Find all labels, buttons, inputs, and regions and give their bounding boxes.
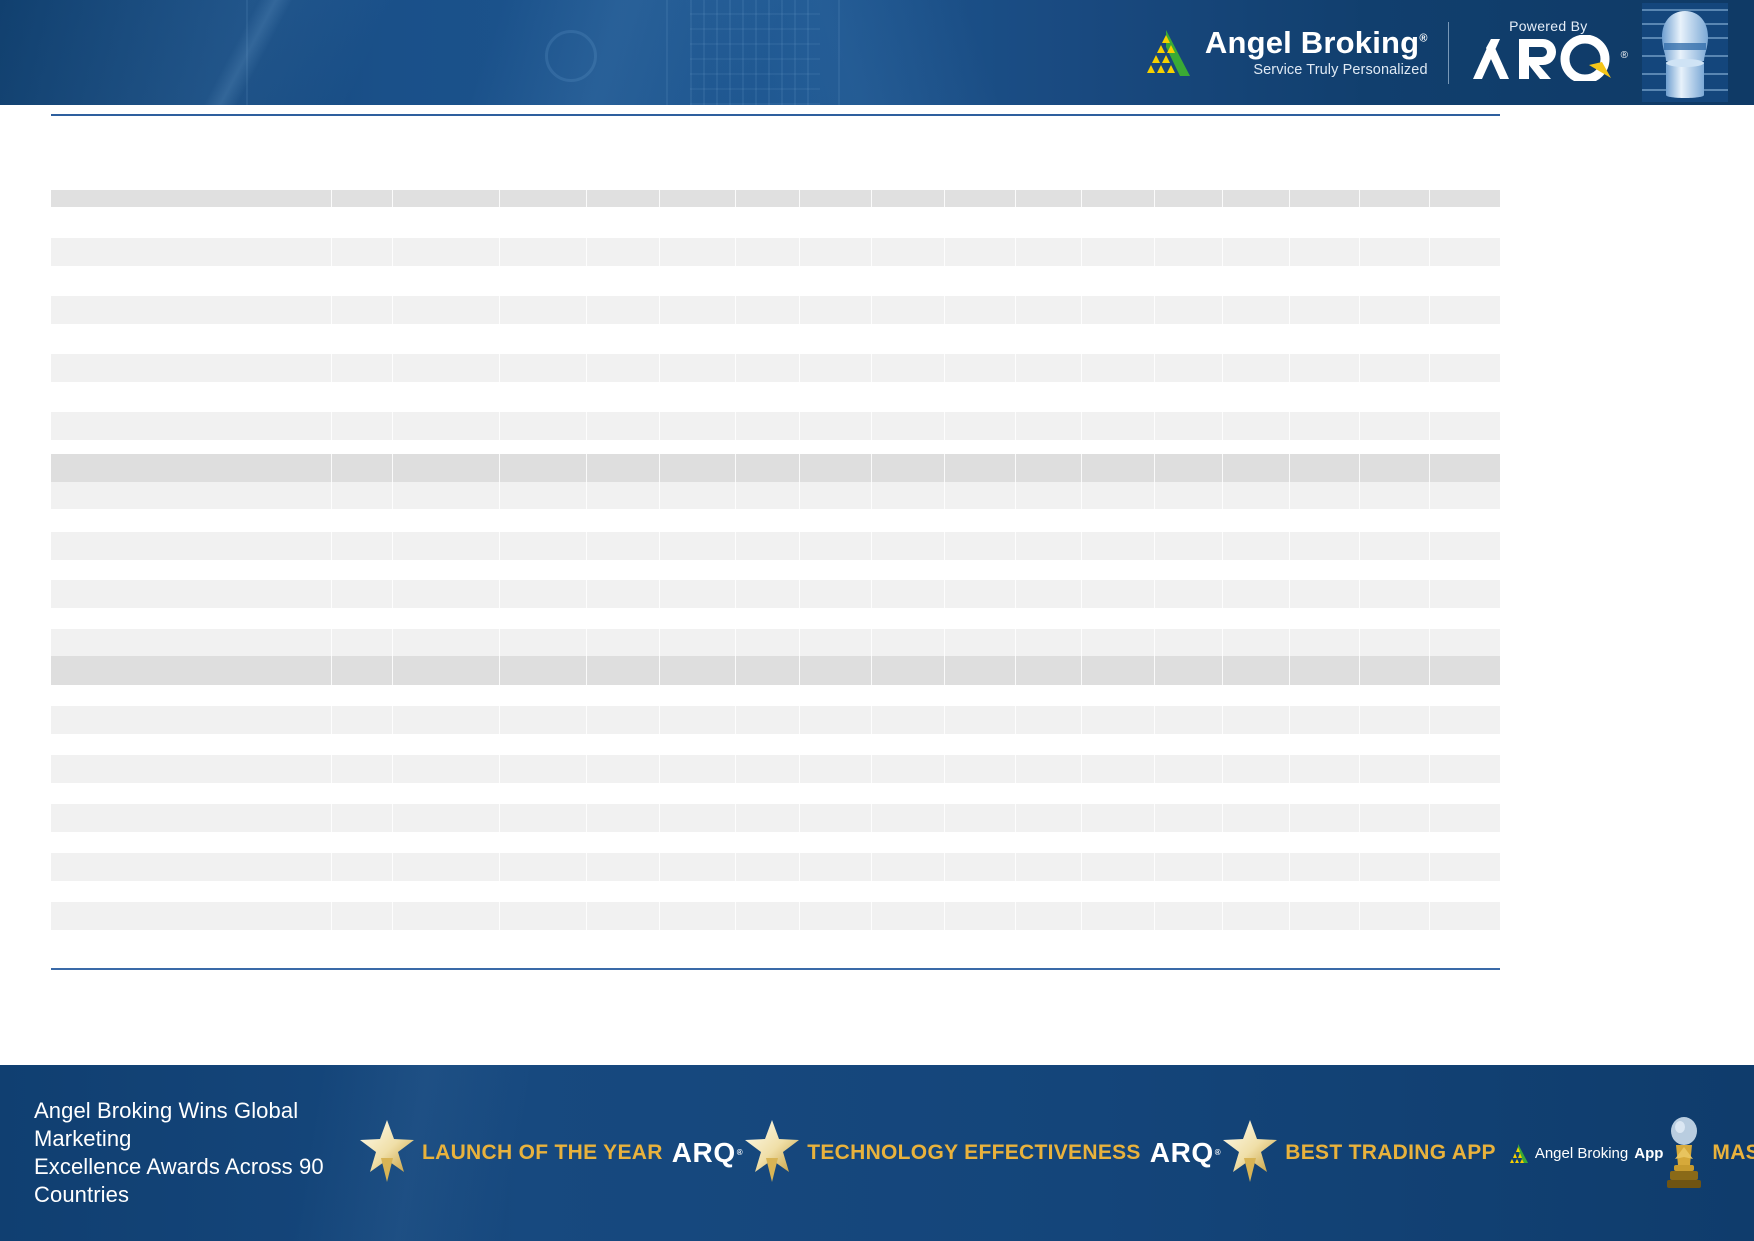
table-cell bbox=[51, 629, 332, 656]
table-cell bbox=[1360, 629, 1430, 656]
table-cell bbox=[800, 354, 872, 382]
table-cell bbox=[660, 755, 736, 783]
table-row[interactable] bbox=[51, 207, 1500, 238]
table-cell bbox=[736, 296, 800, 324]
arq-wordmark-text bbox=[1469, 35, 1619, 88]
table-row[interactable] bbox=[51, 804, 1500, 832]
table-cell bbox=[872, 629, 945, 656]
table-cell bbox=[500, 656, 587, 685]
table-cell bbox=[1155, 238, 1223, 266]
table-cell bbox=[1082, 804, 1155, 832]
table-row[interactable] bbox=[51, 902, 1500, 930]
award-arq-text: ARQ bbox=[672, 1137, 736, 1169]
table-row[interactable] bbox=[51, 881, 1500, 902]
brand-registered-mark: ® bbox=[1419, 33, 1427, 45]
table-row[interactable] bbox=[51, 509, 1500, 532]
table-cell bbox=[736, 629, 800, 656]
table-cell bbox=[660, 454, 736, 482]
table-cell bbox=[800, 454, 872, 482]
table-cell bbox=[332, 656, 393, 685]
arq-robot-icon bbox=[1642, 3, 1728, 102]
table-cell bbox=[1430, 532, 1500, 560]
table-row[interactable] bbox=[51, 412, 1500, 440]
table-cell bbox=[872, 755, 945, 783]
table-cell bbox=[500, 238, 587, 266]
table-cell bbox=[736, 853, 800, 881]
table-cell bbox=[587, 238, 660, 266]
table-cell bbox=[393, 656, 500, 685]
table-cell bbox=[945, 656, 1016, 685]
table-cell bbox=[1155, 902, 1223, 930]
brand-name-text: Angel Broking bbox=[1205, 25, 1419, 60]
table-cell bbox=[1290, 656, 1360, 685]
table-row[interactable] bbox=[51, 482, 1500, 509]
table-cell bbox=[945, 629, 1016, 656]
header-circle-watermark bbox=[545, 30, 597, 82]
award-label: BEST TRADING APP bbox=[1285, 1141, 1496, 1165]
table-cell bbox=[393, 755, 500, 783]
table-cell bbox=[1360, 580, 1430, 608]
table-cell bbox=[1430, 238, 1500, 266]
table-header-cell bbox=[1290, 190, 1360, 207]
table-row[interactable] bbox=[51, 580, 1500, 608]
table-cell bbox=[1290, 853, 1360, 881]
table-cell bbox=[51, 454, 332, 482]
table-cell bbox=[1290, 755, 1360, 783]
table-cell bbox=[872, 706, 945, 734]
table-header-cell bbox=[587, 190, 660, 207]
table-row[interactable] bbox=[51, 608, 1500, 629]
table-cell bbox=[1360, 656, 1430, 685]
table-cell bbox=[660, 804, 736, 832]
table-cell bbox=[332, 580, 393, 608]
table-cell bbox=[393, 238, 500, 266]
table-cell bbox=[587, 454, 660, 482]
table-cell bbox=[1223, 580, 1290, 608]
table-cell bbox=[587, 412, 660, 440]
table-cell bbox=[1016, 853, 1082, 881]
angel-broking-logo: Angel Broking® Service Truly Personalize… bbox=[1140, 27, 1428, 78]
table-cell bbox=[736, 656, 800, 685]
table-cell bbox=[332, 629, 393, 656]
table-cell bbox=[1430, 580, 1500, 608]
table-header-cell bbox=[1430, 190, 1500, 207]
table-cell bbox=[660, 853, 736, 881]
table-cell bbox=[1360, 238, 1430, 266]
header-diagonal-streak bbox=[120, 0, 380, 105]
table-row[interactable] bbox=[51, 354, 1500, 382]
table-row[interactable] bbox=[51, 238, 1500, 266]
table-cell bbox=[736, 706, 800, 734]
table-row[interactable] bbox=[51, 324, 1500, 354]
table-cell bbox=[736, 902, 800, 930]
table-cell bbox=[1223, 902, 1290, 930]
table-cell bbox=[1155, 354, 1223, 382]
table-cell bbox=[1360, 706, 1430, 734]
table-cell bbox=[1223, 656, 1290, 685]
angel-broking-triangle-icon bbox=[1140, 28, 1192, 78]
table-cell bbox=[1223, 296, 1290, 324]
table-cell bbox=[872, 580, 945, 608]
table-cell bbox=[736, 804, 800, 832]
table-cell bbox=[500, 853, 587, 881]
table-cell bbox=[1155, 755, 1223, 783]
table-cell bbox=[1155, 706, 1223, 734]
table-cell bbox=[1360, 853, 1430, 881]
table-header-row[interactable] bbox=[51, 190, 1500, 207]
table-cell bbox=[660, 656, 736, 685]
table-cell bbox=[51, 902, 332, 930]
award-label: LAUNCH OF THE YEAR bbox=[422, 1141, 663, 1165]
award-sub-brand-bold: App bbox=[1634, 1145, 1663, 1162]
award-badge: BEST TRADING APP Angel BrokingApp bbox=[1221, 1065, 1663, 1241]
table-cell bbox=[872, 412, 945, 440]
award-badge: LAUNCH OF THE YEARARQ® bbox=[358, 1065, 743, 1241]
table-cell bbox=[1430, 354, 1500, 382]
table-cell bbox=[1360, 482, 1430, 509]
table-cell bbox=[332, 532, 393, 560]
table-cell bbox=[660, 238, 736, 266]
table-cell bbox=[1016, 482, 1082, 509]
table-cell bbox=[51, 656, 332, 685]
table-cell bbox=[872, 804, 945, 832]
table-cell bbox=[500, 412, 587, 440]
header-vertical-streak bbox=[666, 0, 668, 105]
table-cell bbox=[736, 238, 800, 266]
table-bottom-rule bbox=[51, 968, 1500, 970]
table-header-cell bbox=[393, 190, 500, 207]
table-cell bbox=[1223, 853, 1290, 881]
table-cell bbox=[872, 238, 945, 266]
table-row[interactable] bbox=[51, 685, 1500, 706]
table-cell bbox=[587, 629, 660, 656]
angel-broking-triangle-icon bbox=[1507, 1143, 1529, 1164]
table-cell bbox=[872, 296, 945, 324]
table-cell bbox=[51, 238, 332, 266]
table-cell bbox=[332, 412, 393, 440]
table-cell bbox=[945, 454, 1016, 482]
table-cell bbox=[1082, 580, 1155, 608]
table-cell bbox=[1016, 656, 1082, 685]
table-cell bbox=[51, 482, 332, 509]
table-cell bbox=[1155, 412, 1223, 440]
award-arq-text: ARQ bbox=[1150, 1137, 1214, 1169]
table-row[interactable] bbox=[51, 734, 1500, 755]
table-cell bbox=[500, 580, 587, 608]
table-header-cell bbox=[736, 190, 800, 207]
table-cell bbox=[1360, 755, 1430, 783]
table-cell bbox=[500, 706, 587, 734]
table-cell bbox=[1360, 454, 1430, 482]
table-cell bbox=[393, 354, 500, 382]
table-cell bbox=[500, 354, 587, 382]
table-cell bbox=[1290, 354, 1360, 382]
table-cell bbox=[1430, 706, 1500, 734]
table-header-cell bbox=[1360, 190, 1430, 207]
footer-headline-line2: Excellence Awards Across 90 Countries bbox=[34, 1153, 358, 1209]
logo-divider bbox=[1448, 22, 1449, 84]
table-cell bbox=[1223, 706, 1290, 734]
table-cell bbox=[51, 853, 332, 881]
table-cell bbox=[332, 804, 393, 832]
table-cell bbox=[1082, 454, 1155, 482]
table-cell bbox=[1082, 706, 1155, 734]
table-header-cell bbox=[1082, 190, 1155, 207]
table-row[interactable] bbox=[51, 296, 1500, 324]
table-cell bbox=[660, 482, 736, 509]
table-cell bbox=[1155, 629, 1223, 656]
award-badge: TECHNOLOGY EFFECTIVENESSARQ® bbox=[743, 1065, 1221, 1241]
table-cell bbox=[736, 354, 800, 382]
table-cell bbox=[1360, 412, 1430, 440]
table-cell bbox=[1082, 412, 1155, 440]
table-row[interactable] bbox=[51, 532, 1500, 560]
table-cell bbox=[1430, 804, 1500, 832]
table-cell bbox=[1082, 902, 1155, 930]
table-cell bbox=[587, 354, 660, 382]
table-cell bbox=[1430, 902, 1500, 930]
table-header-cell bbox=[1223, 190, 1290, 207]
table-cell bbox=[1155, 296, 1223, 324]
table-row[interactable] bbox=[51, 440, 1500, 454]
table-cell bbox=[393, 454, 500, 482]
table-cell bbox=[945, 853, 1016, 881]
table-row[interactable] bbox=[51, 853, 1500, 881]
table-cell bbox=[945, 580, 1016, 608]
table-cell bbox=[800, 629, 872, 656]
table-cell bbox=[587, 804, 660, 832]
table-cell bbox=[1290, 532, 1360, 560]
table-cell bbox=[800, 412, 872, 440]
table-row[interactable] bbox=[51, 783, 1500, 804]
powered-by-label: Powered By bbox=[1509, 18, 1587, 34]
brand-logo-cluster: Angel Broking® Service Truly Personalize… bbox=[1140, 0, 1728, 105]
table-cell bbox=[393, 412, 500, 440]
table-cell bbox=[736, 454, 800, 482]
table-cell bbox=[587, 902, 660, 930]
table-cell bbox=[332, 296, 393, 324]
table-cell bbox=[51, 755, 332, 783]
table-row[interactable] bbox=[51, 560, 1500, 580]
table-cell bbox=[1360, 902, 1430, 930]
table-cell bbox=[1360, 532, 1430, 560]
arq-registered-mark: ® bbox=[1621, 50, 1628, 61]
angel-broking-wordmark: Angel Broking® Service Truly Personalize… bbox=[1205, 27, 1428, 78]
table-cell bbox=[1223, 532, 1290, 560]
table-cell bbox=[1082, 853, 1155, 881]
table-cell bbox=[500, 755, 587, 783]
table-cell bbox=[1223, 804, 1290, 832]
awards-list: LAUNCH OF THE YEARARQ® TECHNOLOGY EFFECT… bbox=[358, 1065, 1754, 1241]
table-cell bbox=[945, 706, 1016, 734]
table-cell bbox=[1082, 354, 1155, 382]
table-cell bbox=[1290, 454, 1360, 482]
table-cell bbox=[332, 354, 393, 382]
star-icon bbox=[358, 1118, 416, 1188]
table-cell bbox=[660, 354, 736, 382]
table-cell bbox=[800, 706, 872, 734]
table-header-cell bbox=[51, 190, 332, 207]
table-cell bbox=[1082, 656, 1155, 685]
table-cell bbox=[51, 412, 332, 440]
table-cell bbox=[1223, 412, 1290, 440]
table-cell bbox=[1430, 482, 1500, 509]
table-cell bbox=[800, 656, 872, 685]
table-cell bbox=[1155, 532, 1223, 560]
table-cell bbox=[1155, 454, 1223, 482]
table-cell bbox=[51, 354, 332, 382]
table-header-cell bbox=[1155, 190, 1223, 207]
table-cell bbox=[1082, 629, 1155, 656]
table-cell bbox=[872, 454, 945, 482]
trophy-icon bbox=[1663, 1117, 1705, 1189]
table-cell bbox=[945, 354, 1016, 382]
table-cell bbox=[945, 412, 1016, 440]
award-arq-logo: ARQ® bbox=[672, 1137, 744, 1169]
table-header-cell bbox=[1016, 190, 1082, 207]
table-cell bbox=[1016, 902, 1082, 930]
table-cell bbox=[872, 902, 945, 930]
table-row[interactable] bbox=[51, 832, 1500, 853]
table-cell bbox=[660, 412, 736, 440]
table-cell bbox=[393, 296, 500, 324]
table-cell bbox=[1016, 354, 1082, 382]
table-cell bbox=[1430, 412, 1500, 440]
table-cell bbox=[872, 656, 945, 685]
table-cell bbox=[393, 532, 500, 560]
table-cell bbox=[1223, 629, 1290, 656]
table-cell bbox=[872, 853, 945, 881]
award-badge: MASTER BRAND 2016 Angel Broking bbox=[1663, 1065, 1754, 1241]
table-cell bbox=[332, 853, 393, 881]
header-vertical-streak bbox=[246, 0, 248, 105]
table-cell bbox=[1082, 238, 1155, 266]
footer-headline: Angel Broking Wins Global Marketing Exce… bbox=[0, 1097, 358, 1210]
table-cell bbox=[1290, 482, 1360, 509]
table-cell bbox=[1430, 296, 1500, 324]
table-header-cell bbox=[872, 190, 945, 207]
table-cell bbox=[660, 902, 736, 930]
page-header: Angel Broking® Service Truly Personalize… bbox=[0, 0, 1754, 105]
document-body bbox=[0, 105, 1754, 1065]
table-cell bbox=[1360, 354, 1430, 382]
table-cell bbox=[1223, 238, 1290, 266]
table-cell bbox=[1360, 296, 1430, 324]
table-cell bbox=[1016, 412, 1082, 440]
table-cell bbox=[393, 580, 500, 608]
table-cell bbox=[587, 580, 660, 608]
table-cell bbox=[736, 482, 800, 509]
table-cell bbox=[332, 902, 393, 930]
table-cell bbox=[51, 804, 332, 832]
table-cell bbox=[1016, 296, 1082, 324]
table-cell bbox=[1082, 482, 1155, 509]
table-row[interactable] bbox=[51, 266, 1500, 296]
table-cell bbox=[500, 482, 587, 509]
table-row[interactable] bbox=[51, 629, 1500, 656]
table-cell bbox=[1290, 412, 1360, 440]
table-cell bbox=[1082, 296, 1155, 324]
table-cell bbox=[587, 482, 660, 509]
table-cell bbox=[393, 706, 500, 734]
table-cell bbox=[1223, 354, 1290, 382]
table-cell bbox=[736, 532, 800, 560]
arq-logo: Powered By ® bbox=[1469, 18, 1628, 88]
table-cell bbox=[500, 804, 587, 832]
table-cell bbox=[332, 482, 393, 509]
arq-glyphs-icon bbox=[1469, 35, 1619, 81]
table-header-cell bbox=[332, 190, 393, 207]
table-cell bbox=[1290, 629, 1360, 656]
table-cell bbox=[800, 755, 872, 783]
table-cell bbox=[1223, 755, 1290, 783]
table-cell bbox=[1290, 296, 1360, 324]
footer-headline-line1: Angel Broking Wins Global Marketing bbox=[34, 1097, 358, 1153]
table-cell bbox=[800, 902, 872, 930]
table-cell bbox=[51, 580, 332, 608]
table-cell bbox=[800, 238, 872, 266]
table-cell bbox=[800, 296, 872, 324]
table-cell bbox=[800, 804, 872, 832]
table-header-cell bbox=[800, 190, 872, 207]
table-cell bbox=[332, 238, 393, 266]
table-row[interactable] bbox=[51, 382, 1500, 412]
table-cell bbox=[393, 853, 500, 881]
table-cell bbox=[1016, 238, 1082, 266]
table-cell bbox=[1155, 656, 1223, 685]
table-cell bbox=[1016, 804, 1082, 832]
table-header-cell bbox=[500, 190, 587, 207]
table-cell bbox=[587, 706, 660, 734]
table-cell bbox=[1290, 706, 1360, 734]
table-cell bbox=[800, 482, 872, 509]
table-cell bbox=[945, 902, 1016, 930]
table-cell bbox=[800, 532, 872, 560]
table-row[interactable] bbox=[51, 656, 1500, 685]
table-cell bbox=[800, 580, 872, 608]
table-cell bbox=[500, 296, 587, 324]
table-row[interactable] bbox=[51, 706, 1500, 734]
table-cell bbox=[51, 296, 332, 324]
table-cell bbox=[1082, 755, 1155, 783]
table-cell bbox=[800, 853, 872, 881]
header-grid-watermark bbox=[690, 0, 820, 105]
data-table[interactable] bbox=[51, 190, 1500, 930]
table-cell bbox=[945, 296, 1016, 324]
table-cell bbox=[1290, 804, 1360, 832]
table-cell bbox=[660, 532, 736, 560]
table-cell bbox=[51, 532, 332, 560]
header-vertical-streak bbox=[838, 0, 840, 105]
award-label: MASTER BRAND 2016 bbox=[1712, 1141, 1754, 1165]
award-angel-broking-lockup: Angel BrokingApp bbox=[1507, 1143, 1664, 1164]
table-row[interactable] bbox=[51, 755, 1500, 783]
table-cell bbox=[1155, 804, 1223, 832]
table-cell bbox=[1016, 755, 1082, 783]
table-cell bbox=[393, 804, 500, 832]
table-cell bbox=[660, 629, 736, 656]
table-cell bbox=[587, 656, 660, 685]
table-cell bbox=[1016, 532, 1082, 560]
table-cell bbox=[500, 454, 587, 482]
table-row[interactable] bbox=[51, 454, 1500, 482]
table-cell bbox=[1430, 755, 1500, 783]
table-cell bbox=[736, 580, 800, 608]
award-arq-logo: ARQ® bbox=[1150, 1137, 1222, 1169]
table-cell bbox=[500, 902, 587, 930]
table-cell bbox=[945, 804, 1016, 832]
table-header-cell bbox=[945, 190, 1016, 207]
